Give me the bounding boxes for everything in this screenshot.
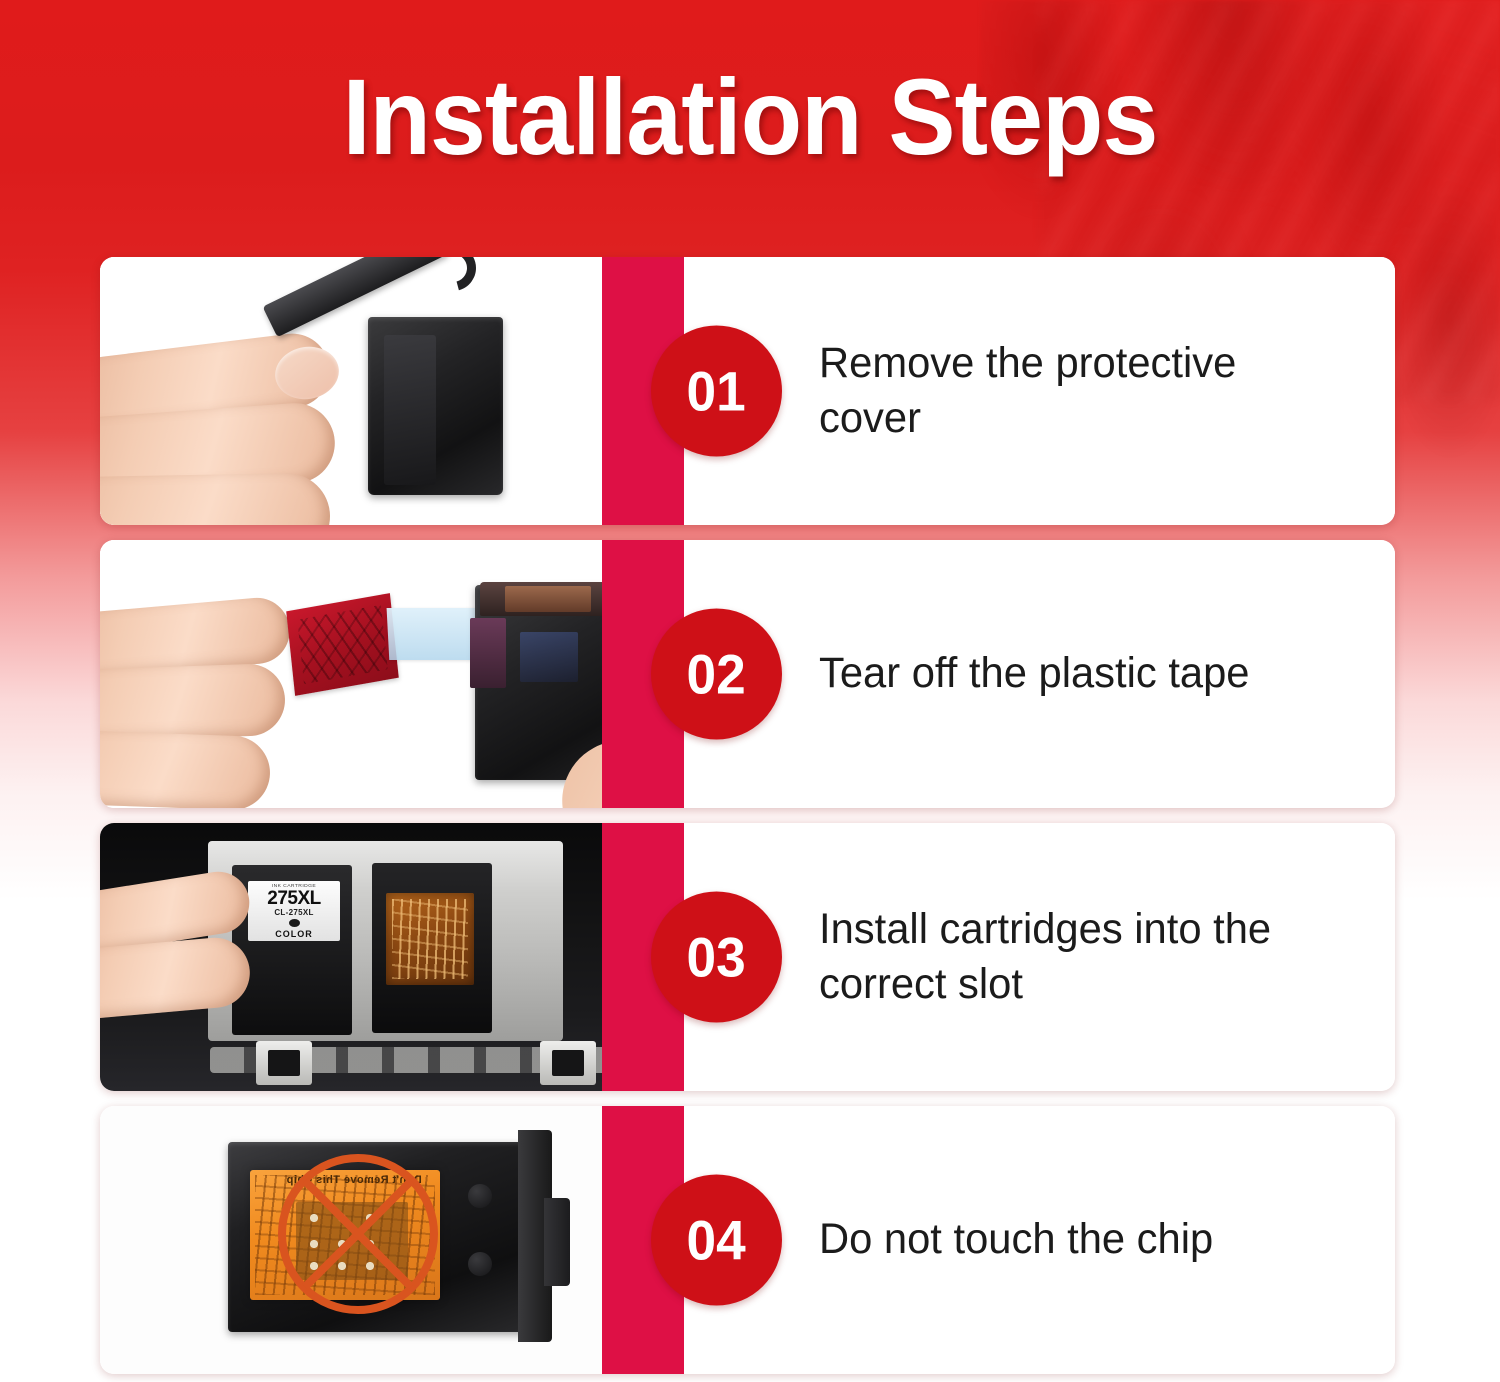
step-number-badge: 03 xyxy=(651,892,782,1023)
step-body: 02 Tear off the plastic tape xyxy=(684,540,1395,808)
step-photo-do-not-touch-chip: Don't Remove This Chip xyxy=(100,1106,602,1374)
hand-illustration xyxy=(100,871,280,1071)
red-pull-tab xyxy=(286,593,399,696)
step-number-badge: 04 xyxy=(651,1175,782,1306)
step-card: INK CARTRIDGE 275XL CL-275XL COLOR xyxy=(100,823,1395,1091)
step-number: 03 xyxy=(687,925,746,990)
step-card: Don't Remove This Chip 04 Do not touch t… xyxy=(100,1106,1395,1374)
steps-list: 01 Remove the protective cover xyxy=(100,257,1395,1374)
label-line-code: CL-275XL xyxy=(274,908,313,917)
flex-circuit-contacts xyxy=(386,893,474,985)
step-number: 04 xyxy=(687,1208,746,1273)
installation-steps-page: Installation Steps xyxy=(0,0,1500,1382)
step-number: 02 xyxy=(687,642,746,707)
step-number-badge: 02 xyxy=(651,609,782,740)
step-card: 02 Tear off the plastic tape xyxy=(100,540,1395,808)
step-card: 01 Remove the protective cover xyxy=(100,257,1395,525)
step-caption: Install cartridges into the correct slot xyxy=(819,902,1378,1012)
step-photo-remove-cover xyxy=(100,257,602,525)
step-caption: Do not touch the chip xyxy=(819,1212,1252,1267)
step-body: 04 Do not touch the chip xyxy=(684,1106,1395,1374)
step-number: 01 xyxy=(687,359,746,424)
step-caption: Tear off the plastic tape xyxy=(819,646,1288,701)
protective-cover-clip xyxy=(270,257,470,377)
step-photo-tear-tape xyxy=(100,540,602,808)
prohibition-icon xyxy=(278,1154,438,1314)
label-line-color: COLOR xyxy=(275,929,313,939)
page-title: Installation Steps xyxy=(53,60,1448,173)
carriage-clip-right xyxy=(540,1041,596,1085)
step-caption: Remove the protective cover xyxy=(819,336,1378,446)
step-number-badge: 01 xyxy=(651,326,782,457)
step-body: 03 Install cartridges into the correct s… xyxy=(684,823,1395,1091)
step-photo-install-slot: INK CARTRIDGE 275XL CL-275XL COLOR xyxy=(100,823,602,1091)
step-body: 01 Remove the protective cover xyxy=(684,257,1395,525)
